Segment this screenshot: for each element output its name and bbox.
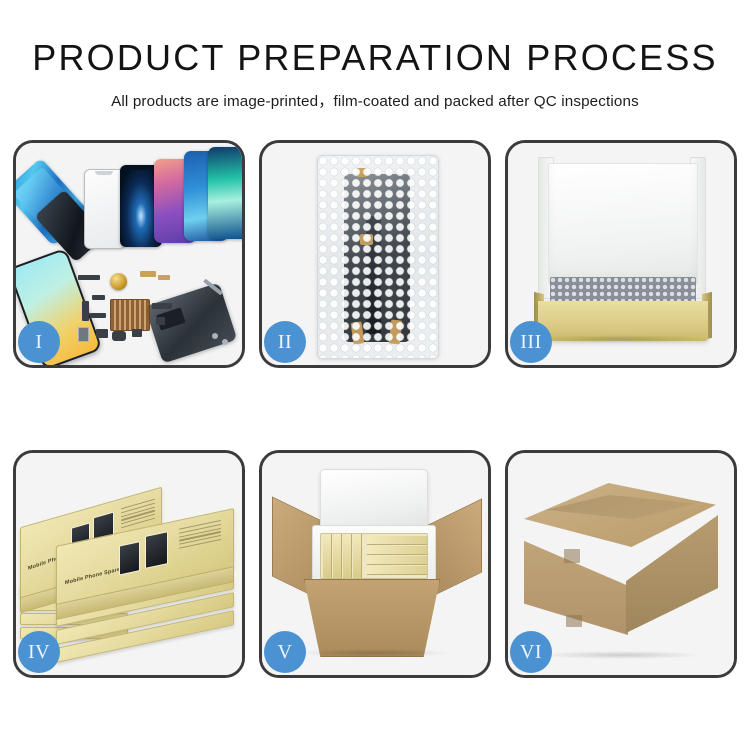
screw-icon [212,333,218,339]
process-step-grid: I II [13,140,737,678]
process-step-4[interactable]: Mobile Phone Spare Parts [13,450,245,678]
spare-part-icon [78,327,89,342]
spare-part-icon [140,271,156,277]
spare-part-icon [112,331,126,341]
spare-part-icon [152,303,172,309]
spare-part-icon [90,313,106,318]
screw-icon [222,339,228,345]
box-stack: Mobile Phone Spare Parts [20,467,238,663]
spare-part-icon [82,301,89,321]
connector-tab-icon [360,234,373,245]
connector-tab-icon [356,168,367,177]
bubble-padding-icon [550,277,696,303]
step-number-badge: V [264,631,306,673]
step-number-badge: VI [510,631,552,673]
box-spec-lines [179,520,221,552]
step-number-badge: III [510,321,552,363]
carton-body-icon [304,579,440,657]
screen-graphic-icon [145,531,168,569]
spare-part-icon [156,317,165,325]
carton-tab-icon [564,549,580,563]
connector-tab-icon [389,319,402,344]
page-header: PRODUCT PREPARATION PROCESS All products… [0,0,750,111]
wrapped-part-icon [344,174,410,342]
yellow-boxes-inside-icon [320,533,428,579]
drop-shadow [540,651,702,659]
bubble-wrap-bag-icon [317,155,439,359]
connector-grid-icon [110,299,150,331]
spare-part-icon [78,275,100,280]
spare-part-icon [96,329,108,338]
screen-graphic-icon [119,541,140,575]
page-title: PRODUCT PREPARATION PROCESS [0,40,750,76]
teal-phone-icon [208,147,242,239]
drop-shadow [532,335,710,343]
drop-shadow [300,649,450,657]
process-step-1[interactable]: I [13,140,245,368]
foam-sheet-icon [548,163,698,285]
step-number-badge: II [264,321,306,363]
gold-component-icon [110,273,127,290]
spare-part-icon [92,295,105,300]
spare-part-icon [132,329,142,337]
page-subtitle: All products are image-printed，film-coat… [0,89,750,111]
process-step-3[interactable]: III [505,140,737,368]
spare-part-icon [158,275,170,280]
step-number-badge: I [18,321,60,363]
flex-cable-icon [366,216,381,334]
process-step-2[interactable]: II [259,140,491,368]
process-step-6[interactable]: VI [505,450,737,678]
connector-tab-icon [351,321,365,344]
carton-tab-icon [566,615,582,627]
process-step-5[interactable]: V [259,450,491,678]
step-number-badge: IV [18,631,60,673]
foam-cooler-lid-icon [320,469,428,533]
